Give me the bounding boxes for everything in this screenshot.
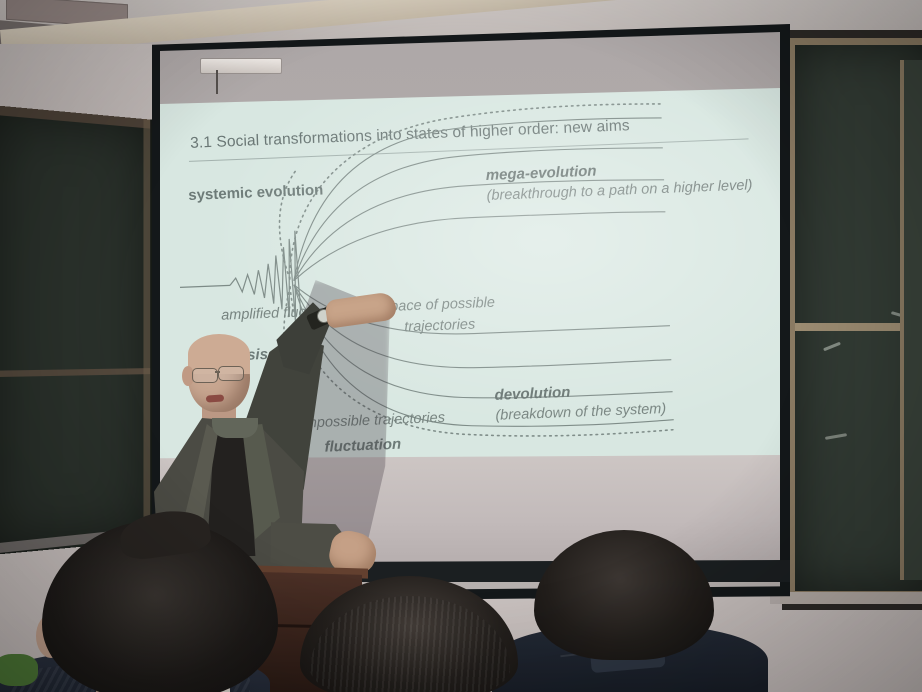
chalkboard-right-panel-2 [900,60,922,580]
chalkboard-left [0,104,155,555]
speaker-jacket-collar [212,418,258,438]
slide-label-devolution: devolution [494,384,570,404]
screen-pull-cord[interactable] [216,70,218,94]
eyeglasses-lens-right [218,366,244,381]
chalkboard-left-frame-divider [0,368,150,377]
audience-seat-back [0,654,38,686]
chalk-tray-right [780,592,922,604]
chalk-mark [825,433,847,440]
lecture-hall-photo: 3.1 Social transformations into states o… [0,0,922,692]
eyeglasses-bridge [215,371,220,373]
screen-roller-housing[interactable] [200,58,282,74]
speaker-mouth [206,394,224,402]
chalk-mark [823,342,841,352]
